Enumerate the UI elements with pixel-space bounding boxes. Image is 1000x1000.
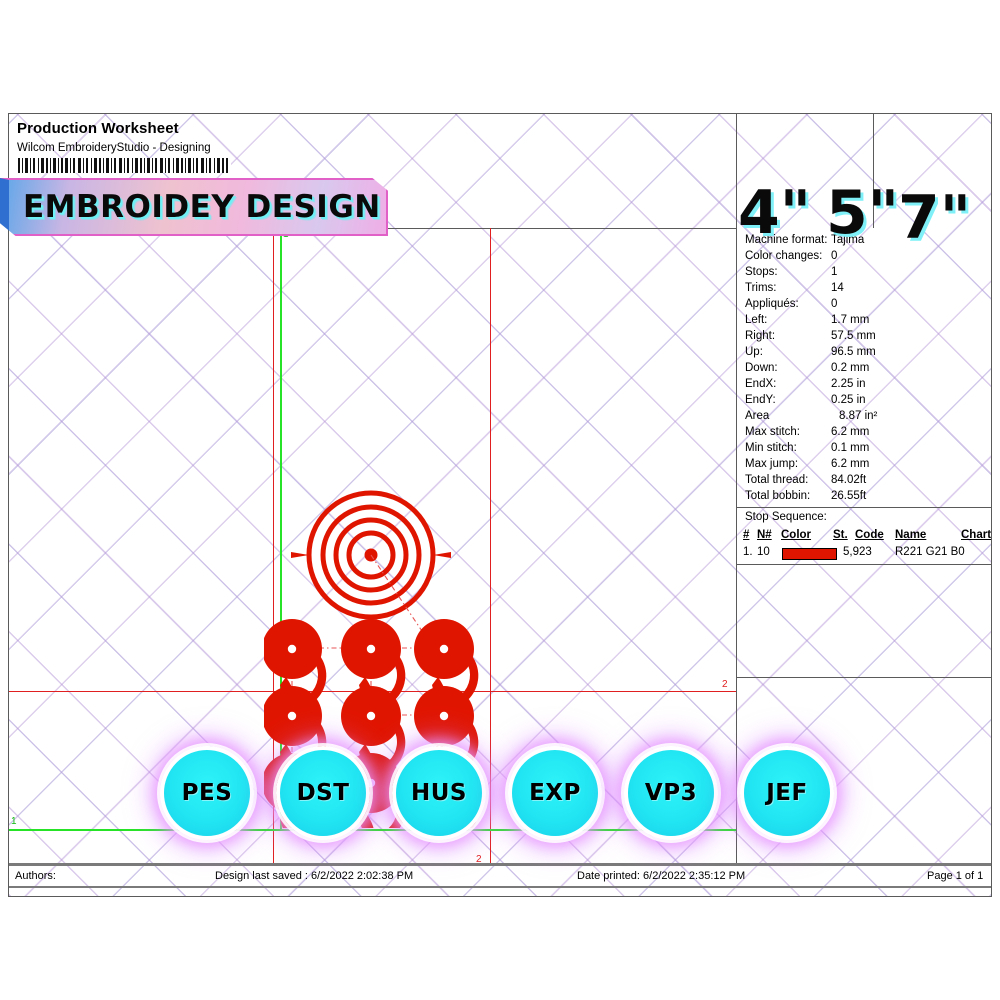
format-badge-label: DST bbox=[297, 780, 350, 806]
size-mark-5in: 5" bbox=[826, 183, 899, 243]
col-header-color: Color bbox=[781, 529, 811, 541]
col-header-chart: Chart bbox=[961, 529, 991, 541]
format-badge-list: PES DST HUS EXP VP3 JEF bbox=[160, 740, 850, 845]
embroidery-design-banner: EMBROIDEY DESIGN bbox=[0, 178, 388, 236]
footer-authors: Authors: bbox=[15, 870, 56, 882]
format-badge-vp3[interactable]: VP3 bbox=[624, 746, 718, 840]
application-subtitle: Wilcom EmbroideryStudio - Designing bbox=[17, 142, 211, 154]
page-title: Production Worksheet bbox=[17, 120, 179, 137]
header-vertical-divider bbox=[736, 114, 737, 228]
stop-sequence-divider bbox=[737, 507, 992, 508]
size-mark-4in: 4" bbox=[738, 183, 811, 243]
info-row-right: Right:57.5 mm bbox=[745, 330, 876, 342]
footer-date-printed: Date printed: 6/2/2022 2:35:12 PM bbox=[577, 870, 745, 882]
format-badge-label: PES bbox=[182, 780, 233, 806]
stop-sequence-label: Stop Sequence: bbox=[745, 511, 827, 523]
col-header-code: Code bbox=[855, 529, 884, 541]
footer-page-number: Page 1 of 1 bbox=[927, 870, 983, 882]
col-header-name: Name bbox=[895, 529, 926, 541]
footer-bottom-rule bbox=[9, 886, 992, 888]
color-swatch[interactable] bbox=[782, 548, 837, 560]
format-badge-exp[interactable]: EXP bbox=[508, 746, 602, 840]
axis-label-h1: 1 bbox=[11, 817, 17, 827]
format-badge-jef[interactable]: JEF bbox=[740, 746, 834, 840]
info-row-stops: Stops:1 bbox=[745, 266, 837, 278]
info-row-trims: Trims:14 bbox=[745, 282, 844, 294]
hoop-label-2-bottom: 2 bbox=[476, 855, 482, 863]
screenshot-root: Production Worksheet Wilcom EmbroiderySt… bbox=[0, 0, 1000, 1000]
footer-last-saved: Design last saved : 6/2/2022 2:02:38 PM bbox=[215, 870, 413, 882]
format-badge-label: EXP bbox=[529, 780, 581, 806]
info-row-down: Down:0.2 mm bbox=[745, 362, 869, 374]
info-row-endx: EndX:2.25 in bbox=[745, 378, 866, 390]
col-header-nnum: N# bbox=[757, 529, 772, 541]
stop-sequence-row-divider bbox=[737, 564, 992, 565]
info-row-up: Up:96.5 mm bbox=[745, 346, 876, 358]
info-row-endy: EndY:0.25 in bbox=[745, 394, 866, 406]
info-row-max-stitch: Max stitch:6.2 mm bbox=[745, 426, 869, 438]
info-row-appliques: Appliqués:0 bbox=[745, 298, 837, 310]
footer-top-rule bbox=[9, 863, 992, 866]
col-header-num: # bbox=[743, 529, 749, 541]
hoop-label-2-right: 2 bbox=[722, 680, 728, 690]
format-badge-dst[interactable]: DST bbox=[276, 746, 370, 840]
info-row-total-thread: Total thread:84.02ft bbox=[745, 474, 866, 486]
format-badge-label: JEF bbox=[766, 780, 807, 806]
format-badge-pes[interactable]: PES bbox=[160, 746, 254, 840]
info-row-area: Area8.87 in² bbox=[745, 410, 877, 422]
format-badge-label: HUS bbox=[411, 780, 467, 806]
col-header-stitch: St. bbox=[833, 529, 848, 541]
info-row-max-jump: Max jump:6.2 mm bbox=[745, 458, 869, 470]
format-badge-label: VP3 bbox=[645, 780, 697, 806]
info-row-left: Left:1.7 mm bbox=[745, 314, 869, 326]
size-mark-7in: 7" bbox=[898, 188, 971, 248]
info-row-total-bobbin: Total bobbin:26.55ft bbox=[745, 490, 866, 502]
info-row-color-changes: Color changes:0 bbox=[745, 250, 837, 262]
banner-label: EMBROIDEY DESIGN bbox=[23, 189, 381, 225]
worksheet-footer: Authors: Design last saved : 6/2/2022 2:… bbox=[9, 863, 992, 897]
info-row-min-stitch: Min stitch:0.1 mm bbox=[745, 442, 869, 454]
format-badge-hus[interactable]: HUS bbox=[392, 746, 486, 840]
cell-num: 1. bbox=[743, 546, 753, 558]
cell-stitches: 5,923 bbox=[843, 546, 872, 558]
cell-nnum: 10 bbox=[757, 546, 770, 558]
barcode-icon bbox=[17, 158, 231, 173]
stop-sequence-bottom-divider bbox=[737, 677, 992, 678]
cell-name: R221 G21 B0 bbox=[895, 546, 965, 558]
